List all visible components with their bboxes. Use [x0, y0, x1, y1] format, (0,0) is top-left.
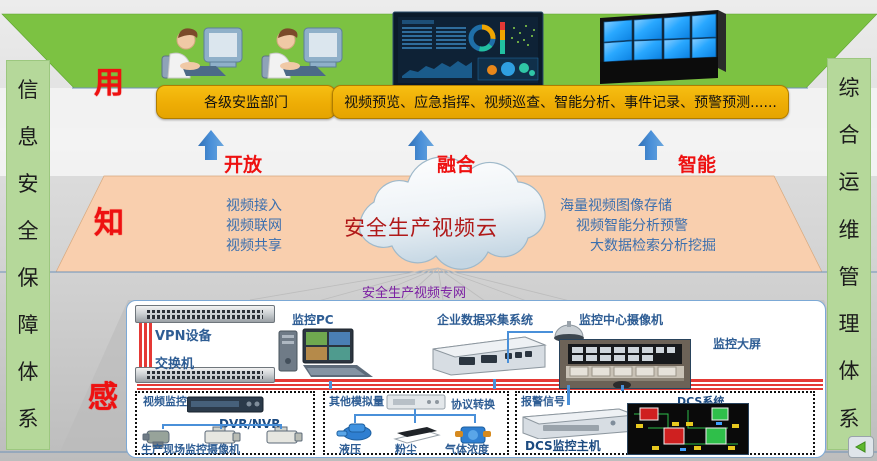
analog-item-gas: 气体浓度: [445, 441, 489, 457]
group-video-surveillance-title: 视频监控: [143, 393, 187, 409]
cloud-right-items: 海量视频图像存储 视频智能分析预警 大数据检索分析挖掘: [560, 196, 760, 256]
pc-bus-link: [329, 381, 332, 389]
side-banner-right-char: 管: [839, 267, 860, 288]
dcs-hmi-art: [628, 404, 748, 454]
pill-platform-functions[interactable]: 视频预览、应急指挥、视频巡查、智能分析、事件记录、预警预测......: [332, 85, 789, 119]
video-wall: [600, 10, 726, 84]
arrow-label-fuse: 融合: [437, 150, 475, 177]
pill-platform-functions-label: 视频预览、应急指挥、视频巡查、智能分析、事件记录、预警预测......: [344, 92, 777, 112]
side-banner-left-char: 障: [18, 315, 39, 336]
vpn-device-icon: [135, 305, 275, 323]
side-banner-right-char: 运: [839, 172, 860, 193]
control-room-camera-label: 监控中心摄像机: [579, 311, 663, 328]
perception-device-panel: VPN设备 交换机 监控PC 企业数据采集系统: [126, 300, 826, 458]
cloud-left-item: 视频接入: [130, 196, 282, 216]
cloud-label: 安全生产视频云: [344, 212, 498, 242]
side-banner-right-char: 维: [839, 220, 860, 241]
cloud-left-items: 视频接入 视频联网 视频共享: [130, 196, 282, 256]
data-collection-icon: [429, 327, 549, 379]
video-wall-label: 监控大屏: [713, 335, 761, 352]
tier-letter-application: 用: [94, 58, 124, 102]
side-banner-left-char: 息: [18, 127, 39, 148]
group-analog-title: 其他模拟量: [329, 393, 384, 409]
data-dashboard-screen: [393, 12, 543, 88]
cloud-left-item: 视频共享: [130, 236, 282, 256]
field-cameras-label: 生产现场监控摄像机: [141, 441, 240, 457]
control-room-photo: [559, 339, 691, 389]
data-collection-label: 企业数据采集系统: [437, 311, 533, 328]
camera-link-h: [507, 331, 553, 333]
side-banner-left: 信 息 安 全 保 障 体 系: [6, 60, 50, 450]
next-slide-arrow-button[interactable]: [848, 436, 874, 458]
side-banner-right-char: 体: [839, 361, 860, 382]
network-label: 安全生产视频专网: [362, 282, 466, 301]
side-banner-right-char: 理: [839, 314, 860, 335]
side-banner-left-char: 体: [18, 362, 39, 383]
bus-horizontal-2: [137, 384, 823, 386]
monitor-pc-icon: [277, 325, 383, 381]
side-banner-right-char: 合: [839, 125, 860, 146]
side-banner-left-char: 安: [18, 174, 39, 195]
dcs-bus-link-2: [567, 385, 570, 405]
side-banner-left-char: 保: [18, 268, 39, 289]
dcs-hmi-screen: [627, 403, 749, 455]
camera-link-v: [507, 331, 509, 363]
tier-letter-perception: 感: [88, 372, 118, 416]
side-banner-right-char: 综: [839, 78, 860, 99]
bus-horizontal-3: [137, 388, 823, 390]
left-arrow-icon: [853, 441, 869, 453]
arrow-label-smart: 智能: [678, 150, 716, 177]
side-banner-left-char: 系: [18, 409, 39, 430]
cloud-right-item: 大数据检索分析挖掘: [560, 236, 760, 256]
cloud-left-item: 视频联网: [130, 216, 282, 236]
analog-item-hydraulic: 液压: [339, 441, 361, 457]
analog-item-dust: 粉尘: [395, 441, 417, 457]
vpn-device-label: VPN设备: [155, 325, 211, 344]
side-banner-left-char: 全: [18, 221, 39, 242]
dvr-icon: [187, 395, 265, 415]
switch-label: 交换机: [155, 353, 194, 372]
tier-letter-platform: 知: [94, 198, 124, 242]
side-banner-right-char: 系: [839, 409, 860, 430]
arrow-label-open: 开放: [224, 150, 262, 177]
cloud-right-item: 海量视频图像存储: [560, 196, 760, 216]
side-banner-right: 综 合 运 维 管 理 体 系: [827, 58, 871, 450]
pill-safety-departments[interactable]: 各级安监部门: [156, 85, 336, 119]
dcs-host-icon: [519, 405, 639, 439]
dcs-bus-link: [493, 379, 496, 389]
dcs-host-label: DCS监控主机: [525, 437, 601, 454]
architecture-diagram: 信 息 安 全 保 障 体 系 综 合 运 维 管 理 体 系 用 知 感 各级…: [0, 0, 877, 461]
cloud-right-item: 视频智能分析预警: [560, 216, 760, 236]
side-banner-left-char: 信: [18, 80, 39, 101]
control-room-art: [560, 340, 690, 388]
pill-safety-departments-label: 各级安监部门: [204, 92, 288, 112]
